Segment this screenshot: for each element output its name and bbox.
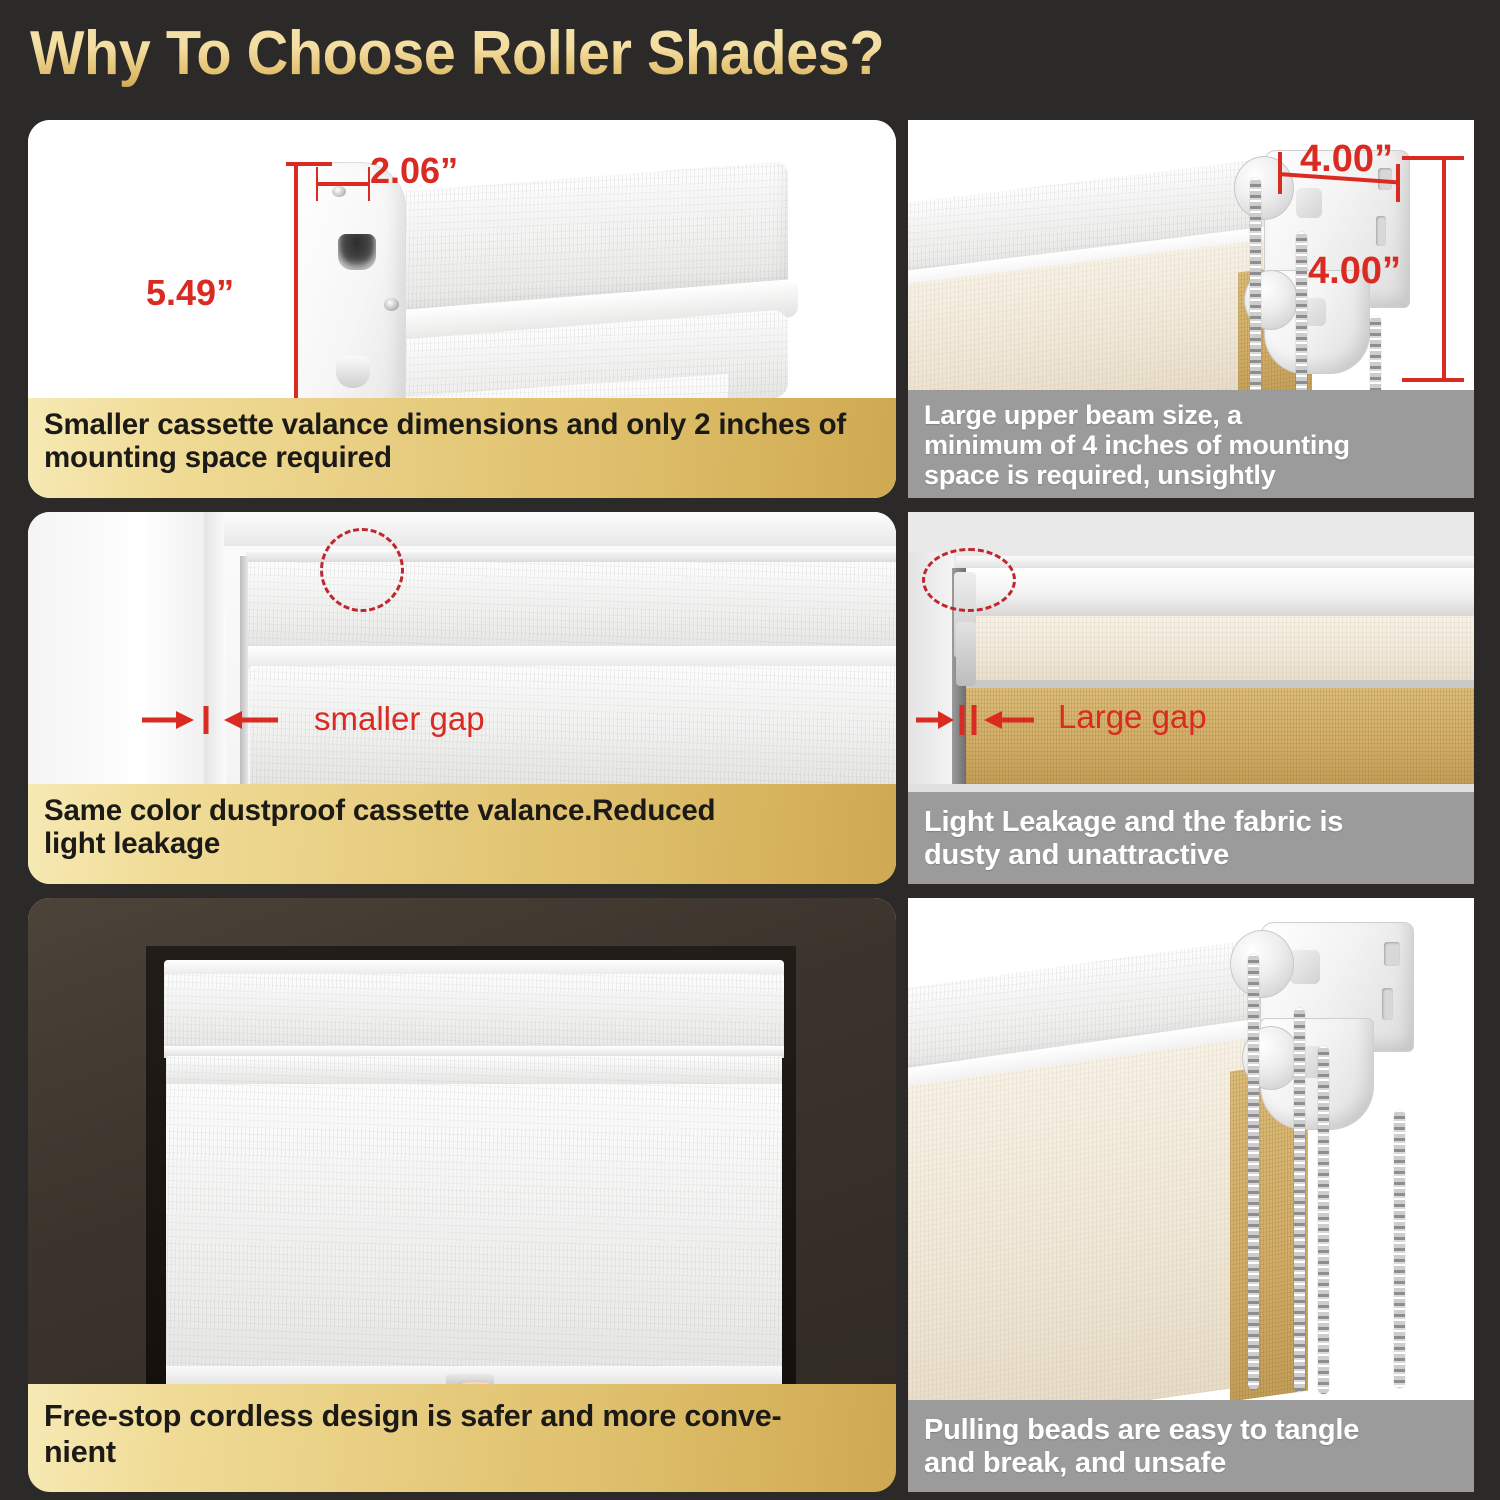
highlight-circle-gap [320, 528, 404, 612]
dimension-label-width: 2.06” [370, 150, 458, 192]
dimension-label-width: 4.00” [1300, 138, 1393, 181]
caption-line: nient [44, 1434, 880, 1470]
gap-arrows-icon [138, 702, 318, 738]
bead-chain-mid-2 [1318, 1046, 1329, 1394]
caption-line: Same color dustproof cassette valance.Re… [44, 794, 880, 827]
plate-notch-mid-icon [1376, 216, 1386, 246]
panel-caption-5: Free-stop cordless design is safer and m… [28, 1384, 896, 1492]
cassette-bottom-edge [246, 646, 896, 668]
infographic-root: Why To Choose Roller Shades? [0, 0, 1500, 1500]
annotation-smaller-gap: smaller gap [314, 700, 485, 738]
panel-caption-2: Large upper beam size, a minimum of 4 in… [908, 390, 1474, 498]
caption-line: Large upper beam size, a [924, 400, 1458, 430]
fabric-cream-band [966, 616, 1474, 688]
panel-cassette-dimensions: 2.06” 5.49” Smaller cassette valance dim… [28, 120, 896, 498]
caption-line: dusty and unattractive [924, 839, 1458, 872]
bracket-clip-icon [336, 356, 370, 388]
headrail-roll [966, 568, 1474, 620]
clutch-opening-icon [338, 234, 376, 270]
annotation-large-gap: Large gap [1058, 698, 1207, 736]
valance-body [164, 974, 784, 1052]
roller-end-disc-top [1234, 156, 1294, 220]
bead-chain-left [1248, 954, 1259, 1390]
panel-large-gap: Large gap Light Leakage and the fabric i… [908, 512, 1474, 884]
caption-line: Light Leakage and the fabric is [924, 806, 1458, 839]
screw-mid-icon [384, 298, 399, 311]
bead-chain-left [1250, 178, 1261, 396]
shade-fabric-main [166, 1084, 782, 1384]
plate-emboss-upper-icon [1296, 188, 1322, 218]
caption-line: Free-stop cordless design is safer and m… [44, 1398, 880, 1434]
dim-height-line [294, 164, 298, 432]
dim-h-line [1442, 158, 1446, 380]
window-frame-top [224, 512, 896, 546]
panel-caption-6: Pulling beads are easy to tangle and bre… [908, 1400, 1474, 1492]
dimension-label-height: 5.49” [146, 272, 234, 314]
gap-arrows-icon [914, 702, 1064, 738]
panel-smaller-gap: smaller gap Same color dustproof cassett… [28, 512, 896, 884]
panel-caption-1: Smaller cassette valance dimensions and … [28, 398, 896, 498]
bead-chain-right [1394, 1110, 1405, 1388]
highlight-circle-gap [922, 548, 1016, 612]
dimension-label-height: 4.00” [1308, 250, 1401, 293]
caption-line: light leakage [44, 827, 880, 860]
dim-h-tick-top [1402, 156, 1464, 160]
bead-chain-right [1370, 316, 1381, 400]
ceiling-band [908, 512, 1474, 558]
panel-caption-4: Light Leakage and the fabric is dusty an… [908, 792, 1474, 884]
window-frame-left [28, 512, 218, 784]
caption-line: Pulling beads are easy to tangle [924, 1414, 1458, 1447]
dim-width-line [316, 182, 370, 186]
panel-pulling-beads: Pulling beads are easy to tangle and bre… [908, 898, 1474, 1492]
page-title: Why To Choose Roller Shades? [30, 16, 884, 92]
gap-hardware-lower [956, 622, 976, 686]
bead-chain-mid [1294, 1008, 1305, 1392]
plate-notch-top-icon [1384, 942, 1400, 966]
side-gap [240, 556, 248, 784]
plate-notch-mid-icon [1382, 988, 1393, 1020]
panel-cordless-design: Free-stop cordless design is safer and m… [28, 898, 896, 1492]
window-frame-inner-edge [204, 512, 226, 784]
panel-large-upper-beam: 4.00” 4.00” Large upper beam size, a min… [908, 120, 1474, 498]
panel-caption-3: Same color dustproof cassette valance.Re… [28, 784, 896, 884]
valance-under [166, 1056, 782, 1086]
panel-grid: 2.06” 5.49” Smaller cassette valance dim… [0, 112, 1500, 1500]
roller-end-disc-top [1230, 930, 1294, 998]
dim-height-tick-top [286, 162, 332, 166]
caption-line: space is required, unsightly [924, 460, 1458, 490]
dim-h-tick-bottom [1402, 378, 1464, 382]
plate-emboss-upper-icon [1290, 950, 1320, 984]
caption-line: minimum of 4 inches of mounting [924, 430, 1458, 460]
screw-top-icon [332, 186, 346, 197]
bead-chain-mid [1296, 232, 1307, 400]
caption-line: and break, and unsafe [924, 1447, 1458, 1480]
